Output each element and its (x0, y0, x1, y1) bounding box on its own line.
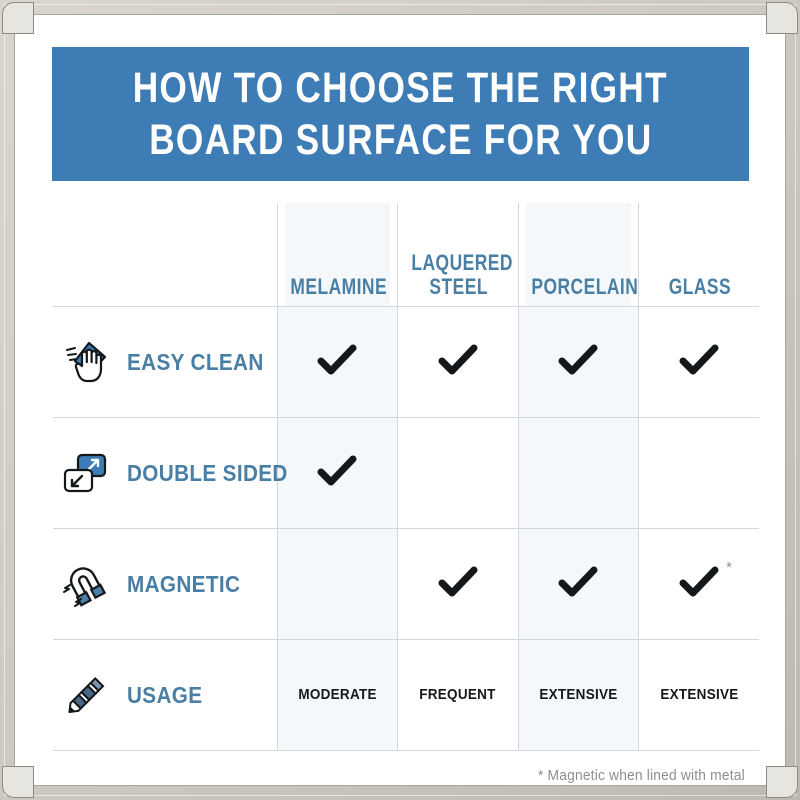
usage-value-laquered-steel: FREQUENT (420, 686, 496, 703)
cell-easy-clean-porcelain (518, 307, 639, 418)
table-row: DOUBLE SIDED (53, 418, 759, 529)
frame-corner-top-right (766, 2, 798, 34)
column-header-porcelain-line1: PORCELAIN (531, 275, 626, 299)
column-header-melamine-line1: MELAMINE (290, 275, 385, 299)
table-row: USAGE MODERATE FREQUENT EXTENSIVE (53, 640, 759, 751)
usage-value-porcelain: EXTENSIVE (539, 686, 617, 703)
table-header-row: MELAMINE LAQUERED STEEL PORCELAIN GLASS (53, 203, 759, 307)
cell-double-sided-laquered-steel (398, 418, 519, 529)
footnote-marker: * (726, 560, 732, 575)
footnote-text: * Magnetic when lined with metal (538, 767, 745, 784)
cell-usage-laquered-steel: FREQUENT (398, 640, 519, 751)
column-header-porcelain: PORCELAIN (525, 203, 631, 307)
row-title-usage: USAGE (127, 682, 202, 709)
row-label-double-sided: DOUBLE SIDED (53, 418, 277, 529)
whiteboard-surface: HOW TO CHOOSE THE RIGHT BOARD SURFACE FO… (14, 14, 786, 786)
cell-double-sided-porcelain (518, 418, 639, 529)
whiteboard-frame: HOW TO CHOOSE THE RIGHT BOARD SURFACE FO… (0, 0, 800, 800)
cell-magnetic-glass: * (639, 529, 760, 640)
column-header-laquered-steel-line2: STEEL (410, 275, 505, 299)
cell-easy-clean-glass (639, 307, 760, 418)
header-corner-blank (53, 203, 277, 307)
infographic-content: HOW TO CHOOSE THE RIGHT BOARD SURFACE FO… (15, 15, 785, 785)
frame-corner-top-left (2, 2, 34, 34)
horseshoe-magnet-icon (57, 556, 113, 612)
check-icon: * (679, 566, 719, 598)
check-icon (558, 344, 598, 376)
check-icon (317, 344, 357, 376)
row-title-magnetic: MAGNETIC (127, 571, 240, 598)
column-header-laquered-steel-line1: LAQUERED (410, 251, 505, 275)
row-label-easy-clean: EASY CLEAN (53, 307, 277, 418)
cell-magnetic-laquered-steel (398, 529, 519, 640)
check-icon (438, 566, 478, 598)
row-label-usage: USAGE (53, 640, 277, 751)
usage-value-melamine: MODERATE (298, 686, 376, 703)
row-title-double-sided: DOUBLE SIDED (127, 460, 288, 487)
cell-double-sided-glass (639, 418, 760, 529)
column-header-melamine: MELAMINE (284, 203, 390, 307)
surface-comparison-table: MELAMINE LAQUERED STEEL PORCELAIN GLASS (53, 203, 759, 751)
column-header-glass-line1: GLASS (651, 275, 746, 299)
cell-usage-melamine: MODERATE (277, 640, 398, 751)
cell-double-sided-melamine (277, 418, 398, 529)
row-label-magnetic: MAGNETIC (53, 529, 277, 640)
table-row: EASY CLEAN (53, 307, 759, 418)
frame-corner-bottom-right (766, 766, 798, 798)
title-banner: HOW TO CHOOSE THE RIGHT BOARD SURFACE FO… (52, 47, 749, 181)
column-header-glass: GLASS (646, 203, 752, 307)
page-title-line-2: BOARD SURFACE FOR YOU (149, 114, 652, 166)
cell-magnetic-melamine (277, 529, 398, 640)
wiping-hand-cloth-icon (57, 334, 113, 390)
check-icon (558, 566, 598, 598)
row-title-easy-clean: EASY CLEAN (127, 349, 264, 376)
column-header-laquered-steel: LAQUERED STEEL (405, 203, 511, 307)
cell-usage-porcelain: EXTENSIVE (518, 640, 639, 751)
check-icon (679, 344, 719, 376)
cell-magnetic-porcelain (518, 529, 639, 640)
cell-easy-clean-laquered-steel (398, 307, 519, 418)
table-row: MAGNETIC (53, 529, 759, 640)
pencil-icon (57, 667, 113, 723)
usage-value-glass: EXTENSIVE (660, 686, 738, 703)
check-icon (317, 455, 357, 487)
double-sided-panels-icon (57, 445, 113, 501)
check-icon (438, 344, 478, 376)
cell-easy-clean-melamine (277, 307, 398, 418)
frame-corner-bottom-left (2, 766, 34, 798)
comparison-table-wrapper: MELAMINE LAQUERED STEEL PORCELAIN GLASS (53, 203, 759, 763)
page-title-line-1: HOW TO CHOOSE THE RIGHT (133, 62, 668, 114)
cell-usage-glass: EXTENSIVE (639, 640, 760, 751)
